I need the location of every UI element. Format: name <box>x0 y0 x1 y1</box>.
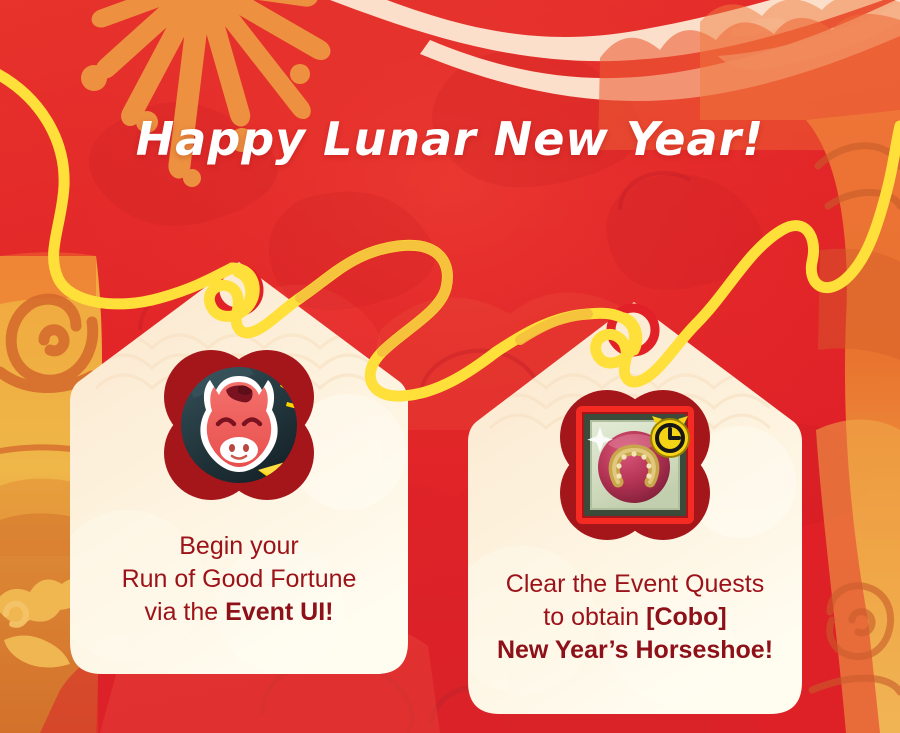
card-text-block: Begin your Run of Good Fortune via the E… <box>66 530 412 629</box>
card-event-ui: Begin your Run of Good Fortune via the E… <box>66 256 412 680</box>
lunar-new-year-banner: Happy Lunar New Year! <box>0 0 900 733</box>
card-line-3-prefix: via the <box>145 598 226 626</box>
card-text-block: Clear the Event Quests to obtain [Cobo] … <box>464 568 806 667</box>
card-event-quests: Clear the Event Quests to obtain [Cobo] … <box>464 296 806 720</box>
card-line-3-emphasis: New Year’s Horseshoe! <box>497 636 773 664</box>
horseshoe-item-badge <box>550 380 720 550</box>
card-line-3: New Year’s Horseshoe! <box>464 634 806 667</box>
horse-avatar-badge <box>154 340 324 510</box>
card-line-3: via the Event UI! <box>66 596 412 629</box>
card-line-2: Run of Good Fortune <box>66 563 412 596</box>
card-line-2-prefix: to obtain <box>543 603 646 631</box>
card-line-2-emphasis: [Cobo] <box>646 603 727 631</box>
card-line-3-emphasis: Event UI! <box>225 598 333 626</box>
card-line-2: to obtain [Cobo] <box>464 601 806 634</box>
clock-badge-icon <box>651 416 689 457</box>
page-title: Happy Lunar New Year! <box>0 112 900 166</box>
card-line-1: Clear the Event Quests <box>464 568 806 601</box>
card-line-1: Begin your <box>66 530 412 563</box>
